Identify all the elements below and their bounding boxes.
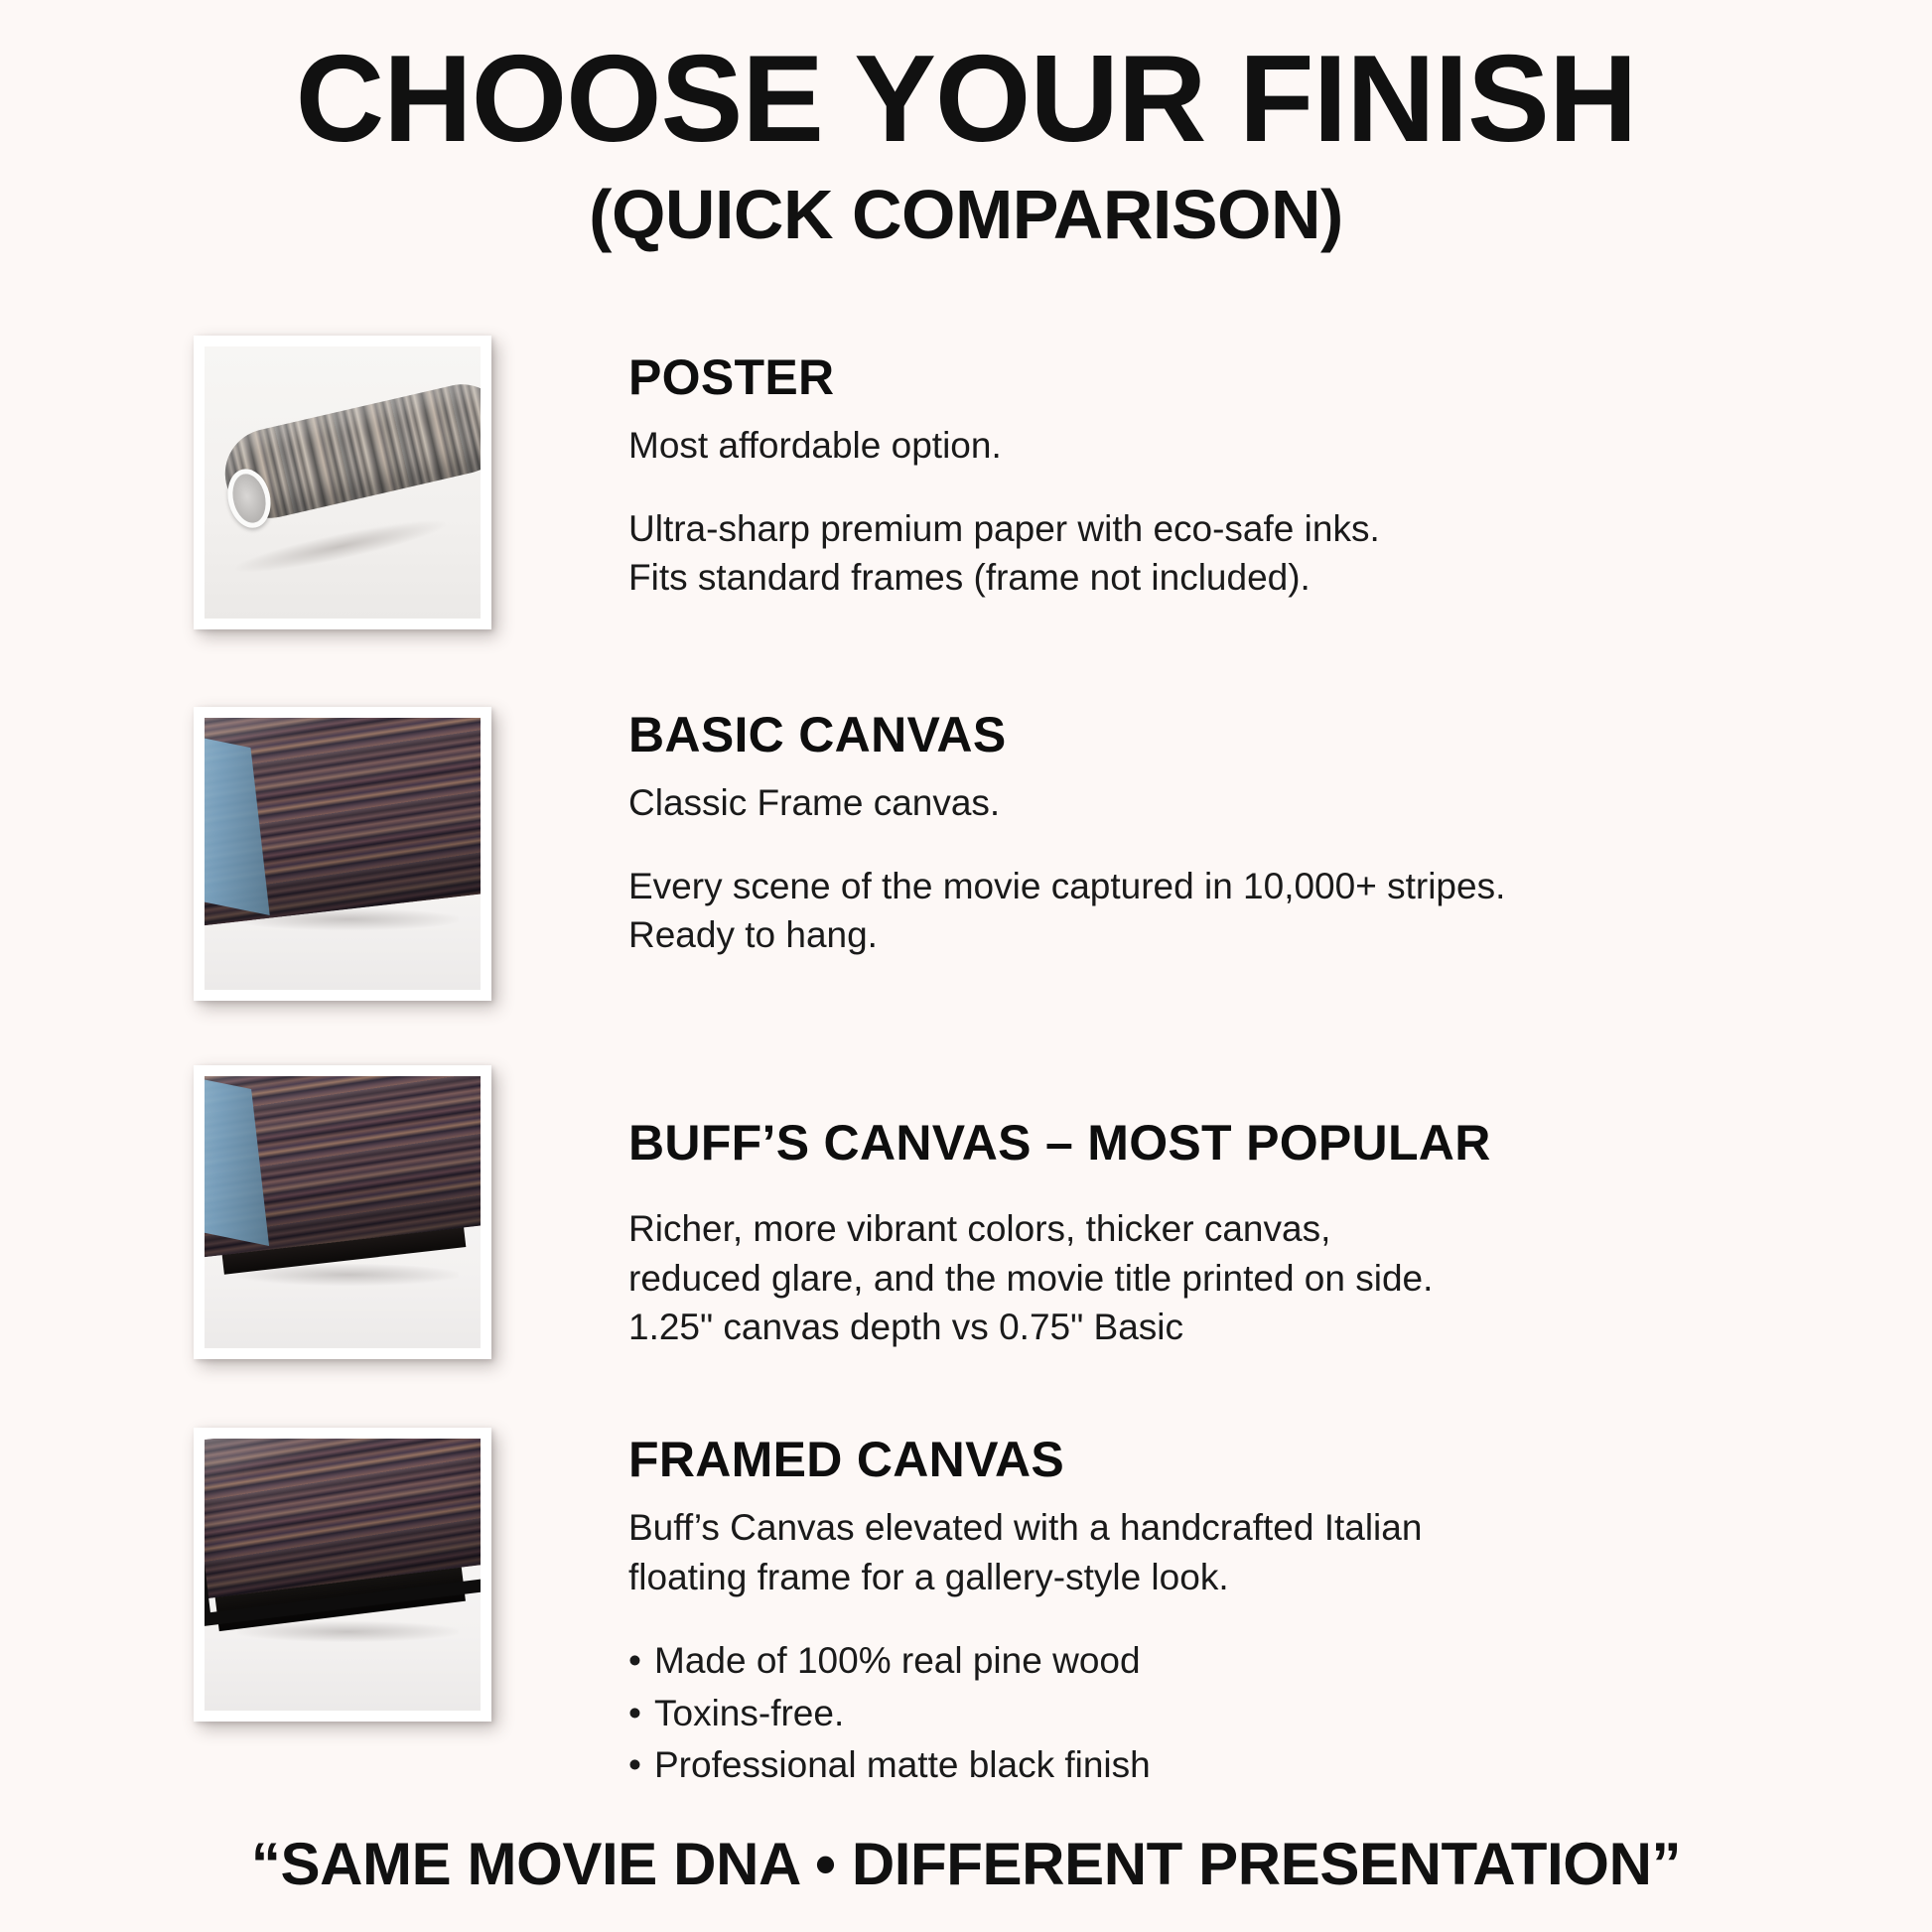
buffs-canvas-detail-line-3: 1.25" canvas depth vs 0.75" Basic bbox=[628, 1303, 1860, 1352]
poster-detail-line-2: Fits standard frames (frame not included… bbox=[628, 553, 1860, 603]
option-row-framed-canvas: FRAMED CANVAS Buff’s Canvas elevated wit… bbox=[0, 1428, 1932, 1725]
poster-text-block: POSTER Most affordable option. Ultra-sha… bbox=[628, 349, 1860, 603]
rolled-poster-photo bbox=[205, 346, 481, 619]
framed-canvas-title: FRAMED CANVAS bbox=[628, 1432, 1860, 1487]
framed-canvas-corner-photo bbox=[205, 1439, 481, 1711]
framed-canvas-detail-line-1: Buff’s Canvas elevated with a handcrafte… bbox=[628, 1503, 1860, 1553]
poster-photo-card bbox=[194, 336, 491, 629]
framed-canvas-text-block: FRAMED CANVAS Buff’s Canvas elevated wit… bbox=[628, 1432, 1860, 1792]
spacer bbox=[628, 471, 1860, 504]
buffs-canvas-corner-photo bbox=[205, 1076, 481, 1348]
buffs-canvas-detail-line-1: Richer, more vibrant colors, thicker can… bbox=[628, 1204, 1860, 1254]
buffs-canvas-title: BUFF’S CANVAS – MOST POPULAR bbox=[628, 1115, 1860, 1171]
poster-detail-line-1: Ultra-sharp premium paper with eco-safe … bbox=[628, 504, 1860, 554]
header: CHOOSE YOUR FINISH (QUICK COMPARISON) bbox=[0, 34, 1932, 253]
framed-canvas-photo-card bbox=[194, 1428, 491, 1722]
basic-canvas-photo-card bbox=[194, 707, 491, 1001]
footer-tagline: “SAME MOVIE DNA • DIFFERENT PRESENTATION… bbox=[0, 1830, 1932, 1898]
buffs-canvas-text-block: BUFF’S CANVAS – MOST POPULAR Richer, mor… bbox=[628, 1115, 1860, 1352]
list-item: Made of 100% real pine wood bbox=[628, 1635, 1860, 1688]
spacer bbox=[628, 405, 1860, 421]
spacer bbox=[628, 1601, 1860, 1635]
basic-canvas-corner-photo bbox=[205, 718, 481, 990]
option-row-poster: POSTER Most affordable option. Ultra-sha… bbox=[0, 336, 1932, 633]
page-subtitle: (QUICK COMPARISON) bbox=[0, 177, 1932, 253]
poster-tagline: Most affordable option. bbox=[628, 421, 1860, 471]
spacer bbox=[628, 762, 1860, 778]
basic-canvas-text-block: BASIC CANVAS Classic Frame canvas. Every… bbox=[628, 707, 1860, 960]
poster-title: POSTER bbox=[628, 349, 1860, 405]
framed-canvas-detail-line-2: floating frame for a gallery-style look. bbox=[628, 1553, 1860, 1602]
option-row-buffs-canvas: BUFF’S CANVAS – MOST POPULAR Richer, mor… bbox=[0, 1065, 1932, 1363]
buffs-canvas-photo-card bbox=[194, 1065, 491, 1359]
basic-canvas-detail-line-1: Every scene of the movie captured in 10,… bbox=[628, 862, 1860, 911]
list-item: Professional matte black finish bbox=[628, 1739, 1860, 1792]
spacer bbox=[628, 1171, 1860, 1204]
page-title: CHOOSE YOUR FINISH bbox=[0, 34, 1932, 167]
framed-canvas-bullet-list: Made of 100% real pine wood Toxins-free.… bbox=[628, 1635, 1860, 1792]
option-row-basic-canvas: BASIC CANVAS Classic Frame canvas. Every… bbox=[0, 707, 1932, 1005]
basic-canvas-detail-line-2: Ready to hang. bbox=[628, 910, 1860, 960]
spacer bbox=[628, 1487, 1860, 1503]
finish-comparison-infographic: CHOOSE YOUR FINISH (QUICK COMPARISON) PO… bbox=[0, 0, 1932, 1932]
buffs-canvas-detail-line-2: reduced glare, and the movie title print… bbox=[628, 1254, 1860, 1304]
basic-canvas-tagline: Classic Frame canvas. bbox=[628, 778, 1860, 828]
list-item: Toxins-free. bbox=[628, 1688, 1860, 1740]
spacer bbox=[628, 828, 1860, 862]
basic-canvas-title: BASIC CANVAS bbox=[628, 707, 1860, 762]
